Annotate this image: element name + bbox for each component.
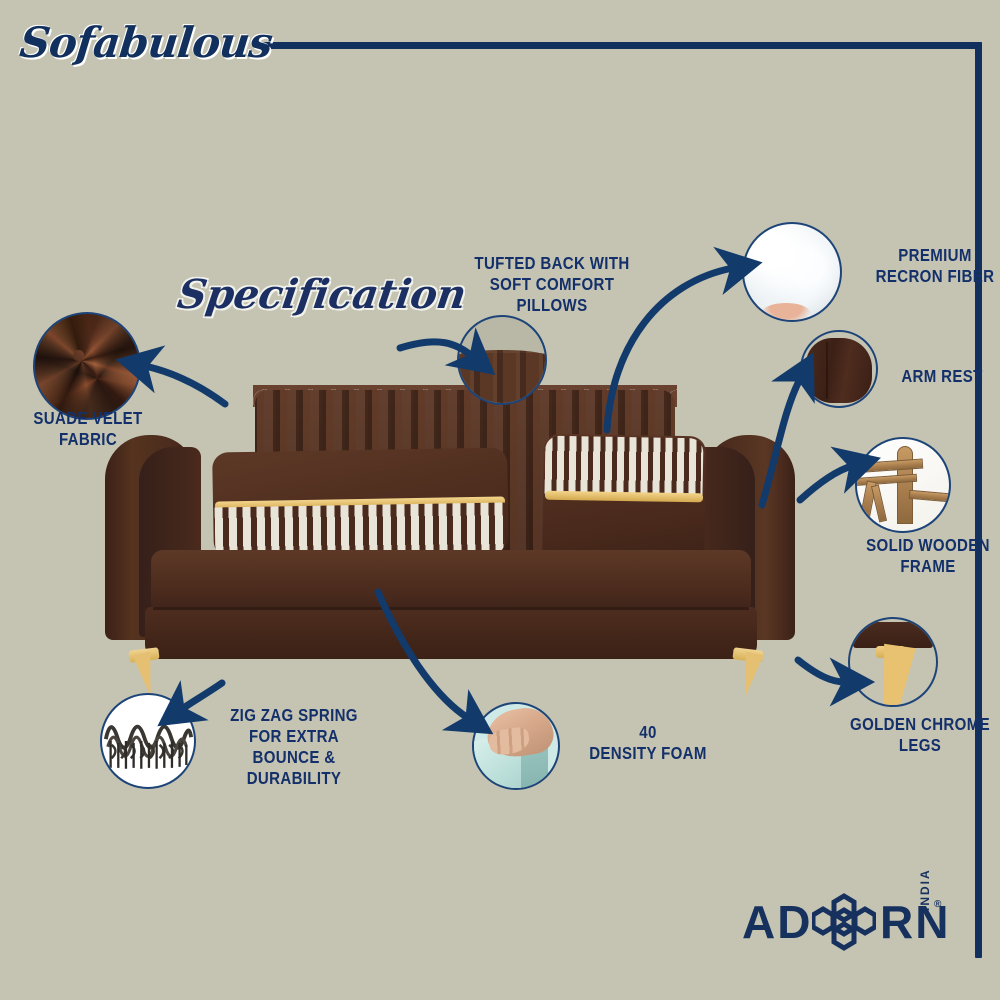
swatch-zig-zag-spring (100, 693, 196, 789)
swatch-solid-wooden-frame (855, 437, 951, 533)
wood-rail-bottom (908, 490, 951, 504)
sofa-illustration (95, 335, 815, 695)
frame-line-horizontal (258, 42, 982, 49)
label-solid-wooden-frame: SOLID WOODEN FRAME (851, 535, 1000, 577)
label-density-foam: 40 DENSITY FOAM (579, 722, 717, 764)
label-golden-chrome-legs: GOLDEN CHROME LEGS (834, 714, 1000, 756)
sofa-base-rail (145, 607, 757, 659)
label-arm-rest: ARM REST (882, 366, 1000, 387)
registered-trademark-icon: ® (934, 899, 941, 910)
spring-coil-drawing (102, 695, 194, 787)
adorn-india-logo: AD RN INDIA ® (742, 893, 942, 955)
honeycomb-icon (812, 893, 876, 953)
sofa-seat-seam (153, 607, 749, 610)
swatch-density-foam (472, 702, 560, 790)
arm-rest-shape (806, 338, 871, 403)
label-zig-zag-spring: ZIG ZAG SPRING FOR EXTRA BOUNCE & DURABI… (210, 705, 379, 789)
sofa-pillow-right-stripes (545, 436, 704, 497)
label-suade-velet-fabric: SUADE VELET FABRIC (12, 408, 163, 450)
swatch-tufted-back (457, 315, 547, 405)
wood-rail-top (855, 459, 923, 474)
wood-post (897, 446, 913, 523)
swatch-golden-chrome-legs (848, 617, 938, 707)
swatch-premium-recron-fiber (742, 222, 842, 322)
page-title: Specification (175, 271, 469, 318)
sofa-seat-cushion (151, 550, 751, 612)
label-tufted-back: TUFTED BACK WITH SOFT COMFORT PILLOWS (466, 253, 638, 316)
wood-brace-b (871, 485, 887, 523)
logo-country-label: INDIA (918, 868, 932, 911)
label-premium-recron-fiber: PREMIUM RECRON FIBER (862, 245, 1000, 287)
brand-title: Sofabulous (17, 18, 274, 67)
logo-wordmark-ad: AD (742, 895, 812, 949)
swatch-arm-rest (800, 330, 878, 408)
tufted-channels (457, 353, 547, 405)
infographic-canvas: Sofabulous Specification (0, 0, 1000, 1000)
frame-line-vertical (975, 42, 982, 958)
swatch-suade-velet-fabric (33, 312, 141, 420)
